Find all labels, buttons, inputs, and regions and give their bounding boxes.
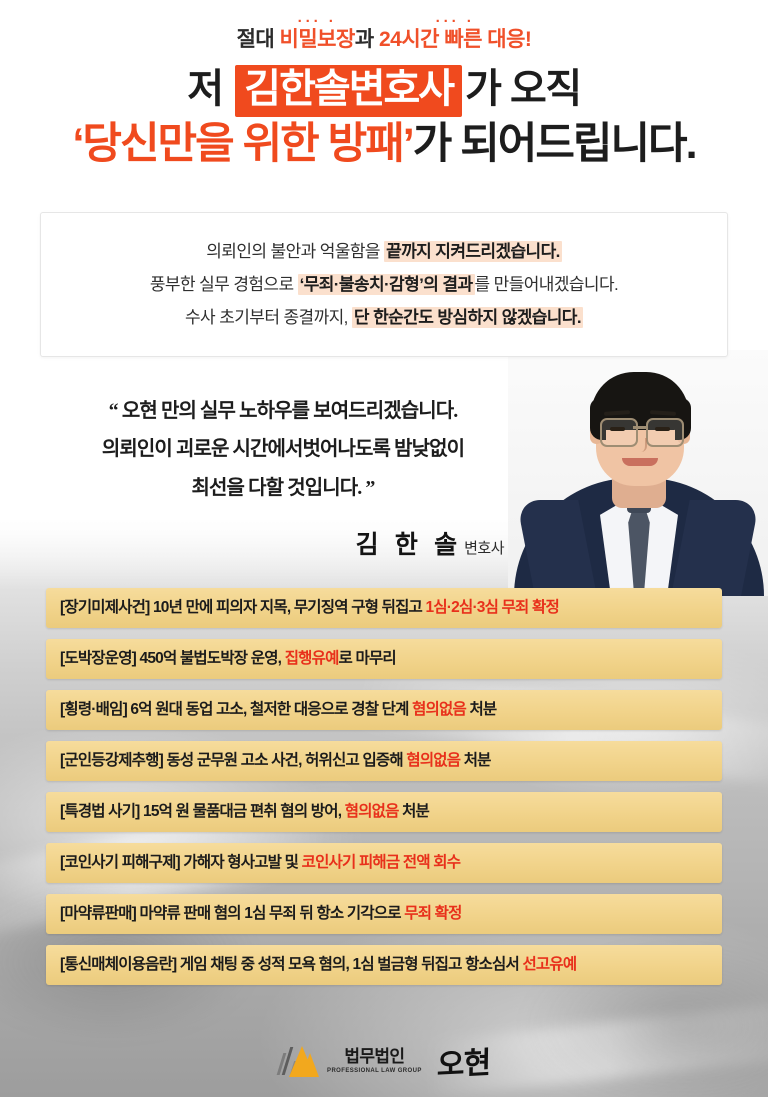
kicker-mid: 과 bbox=[355, 28, 379, 51]
kicker-emphasis-secrecy: 비밀보장 bbox=[280, 28, 355, 51]
promise-line: 수사 초기부터 종결까지, 단 한순간도 방심하지 않겠습니다. bbox=[41, 301, 727, 334]
case-outcome-highlight: 집행유예 bbox=[285, 650, 339, 667]
case-result-bar[interactable]: [군인등강제추행] 동성 군무원 고소 사건, 허위신고 입증해 혐의없음 처분 bbox=[46, 741, 722, 781]
portrait-eye-left bbox=[610, 427, 625, 431]
promise-text-end: 를 만들어내겠습니다. bbox=[475, 275, 619, 294]
logo-english-label: PROFESSIONAL LAW GROUP bbox=[327, 1068, 422, 1074]
quote-line: “ 오현 만의 실무 노하우를 보여드리겠습니다. bbox=[48, 392, 518, 430]
portrait-mouth bbox=[622, 458, 658, 466]
logo-peak-small bbox=[301, 1053, 319, 1077]
case-result-bar[interactable]: [특경법 사기] 15억 원 물품대금 편취 혐의 방어, 혐의없음 처분 bbox=[46, 792, 722, 832]
case-result-bar[interactable]: [통신매체이용음란] 게임 채팅 중 성적 모욕 혐의, 1심 벌금형 뒤집고 … bbox=[46, 945, 722, 985]
case-outcome-highlight: 1심·2심·3심 무죄 확정 bbox=[426, 599, 559, 616]
promise-highlight: 끝까지 지켜드리겠습니다. bbox=[384, 241, 562, 262]
case-text-start: [코인사기 피해구제] 가해자 형사고발 및 bbox=[60, 854, 302, 871]
quote-signature: 김 한 솔변호사 bbox=[48, 525, 518, 561]
signature-name: 김 한 솔 bbox=[356, 532, 463, 559]
case-text-end: 처분 bbox=[399, 803, 429, 820]
case-result-bar[interactable]: [마약류판매] 마약류 판매 혐의 1심 무죄 뒤 항소 기각으로 무죄 확정 bbox=[46, 894, 722, 934]
case-outcome-highlight: 혐의없음 bbox=[412, 701, 466, 718]
headline-secondary: ‘당신만을 위한 방패’가 되어드립니다. bbox=[0, 121, 768, 168]
promise-line: 의뢰인의 불안과 억울함을 끝까지 지켜드리겠습니다. bbox=[41, 235, 727, 268]
promise-text: 수사 초기부터 종결까지, bbox=[185, 308, 352, 327]
promise-highlight: 단 한순간도 방심하지 않겠습니다. bbox=[352, 307, 583, 328]
case-text-start: [도박장운영] 450억 불법도박장 운영, bbox=[60, 650, 285, 667]
case-result-bar[interactable]: [코인사기 피해구제] 가해자 형사고발 및 코인사기 피해금 전액 회수 bbox=[46, 843, 722, 883]
poster-root: 절대 비밀보장과 24시간 빠른 대응! 저 김한솔변호사가 오직 ‘당신만을 … bbox=[0, 0, 768, 1097]
case-results-list: [장기미제사건] 10년 만에 피의자 지목, 무기징역 구형 뒤집고 1심·2… bbox=[46, 588, 722, 996]
glasses-bridge bbox=[633, 426, 647, 429]
quote-line: 최선을 다할 것입니다. ” bbox=[48, 469, 518, 507]
case-text-start: [마약류판매] 마약류 판매 혐의 1심 무죄 뒤 항소 기각으로 bbox=[60, 905, 404, 922]
headline-pre: 저 bbox=[187, 67, 232, 111]
case-result-text: [통신매체이용음란] 게임 채팅 중 성적 모욕 혐의, 1심 벌금형 뒤집고 … bbox=[60, 957, 576, 973]
case-outcome-highlight: 혐의없음 bbox=[406, 752, 460, 769]
kicker-emphasis-response: 24시간 빠른 대응! bbox=[379, 28, 531, 51]
case-outcome-highlight: 무죄 확정 bbox=[404, 905, 461, 922]
case-result-text: [군인등강제추행] 동성 군무원 고소 사건, 허위신고 입증해 혐의없음 처분 bbox=[60, 753, 491, 769]
case-result-text: [횡령·배임] 6억 원대 동업 고소, 철저한 대응으로 경찰 단계 혐의없음… bbox=[60, 702, 496, 718]
case-result-text: [특경법 사기] 15억 원 물품대금 편취 혐의 방어, 혐의없음 처분 bbox=[60, 804, 429, 820]
case-text-start: [군인등강제추행] 동성 군무원 고소 사건, 허위신고 입증해 bbox=[60, 752, 406, 769]
quote-line: 의뢰인이 괴로운 시간에서벗어나도록 밤낮없이 bbox=[48, 430, 518, 468]
case-result-text: [코인사기 피해구제] 가해자 형사고발 및 코인사기 피해금 전액 회수 bbox=[60, 855, 460, 871]
case-text-end: 처분 bbox=[466, 701, 496, 718]
promise-highlight: ‘무죄·불송치·감형’의 결과 bbox=[298, 274, 475, 295]
headline-secondary-tail: 가 되어드립니다. bbox=[413, 120, 696, 168]
headline-name-badge: 김한솔변호사 bbox=[235, 65, 462, 117]
lawyer-portrait bbox=[508, 350, 768, 596]
case-outcome-highlight: 선고유예 bbox=[522, 956, 576, 973]
case-text-start: [횡령·배임] 6억 원대 동업 고소, 철저한 대응으로 경찰 단계 bbox=[60, 701, 412, 718]
promise-box: 의뢰인의 불안과 억울함을 끝까지 지켜드리겠습니다. 풍부한 실무 경험으로 … bbox=[40, 212, 728, 357]
kicker-prefix: 절대 bbox=[237, 28, 280, 51]
footer-logo[interactable]: 법무법인 PROFESSIONAL LAW GROUP 오현 bbox=[0, 1030, 768, 1092]
law-firm-mountain-icon bbox=[278, 1045, 318, 1077]
glasses-icon bbox=[646, 418, 684, 447]
case-text-start: [통신매체이용음란] 게임 채팅 중 성적 모욕 혐의, 1심 벌금형 뒤집고 … bbox=[60, 956, 522, 973]
portrait-nose bbox=[635, 438, 647, 452]
promise-text: 의뢰인의 불안과 억울함을 bbox=[206, 242, 384, 261]
case-result-bar[interactable]: [도박장운영] 450억 불법도박장 운영, 집행유예로 마무리 bbox=[46, 639, 722, 679]
case-result-text: [도박장운영] 450억 불법도박장 운영, 집행유예로 마무리 bbox=[60, 651, 396, 667]
case-result-text: [마약류판매] 마약류 판매 혐의 1심 무죄 뒤 항소 기각으로 무죄 확정 bbox=[60, 906, 462, 922]
case-outcome-highlight: 혐의없음 bbox=[345, 803, 399, 820]
brand-name: 오현 bbox=[436, 1038, 490, 1085]
header-block: 절대 비밀보장과 24시간 빠른 대응! 저 김한솔변호사가 오직 ‘당신만을 … bbox=[0, 0, 768, 168]
headline-primary: 저 김한솔변호사가 오직 bbox=[0, 65, 768, 117]
glasses-icon bbox=[600, 418, 638, 447]
case-text-end: 처분 bbox=[460, 752, 490, 769]
promise-line: 풍부한 실무 경험으로 ‘무죄·불송치·감형’의 결과를 만들어내겠습니다. bbox=[41, 268, 727, 301]
logo-text-block: 법무법인 PROFESSIONAL LAW GROUP bbox=[327, 1048, 422, 1074]
case-text-start: [특경법 사기] 15억 원 물품대금 편취 혐의 방어, bbox=[60, 803, 345, 820]
case-text-start: [장기미제사건] 10년 만에 피의자 지목, 무기징역 구형 뒤집고 bbox=[60, 599, 426, 616]
case-outcome-highlight: 코인사기 피해금 전액 회수 bbox=[302, 854, 461, 871]
case-result-bar[interactable]: [횡령·배임] 6억 원대 동업 고소, 철저한 대응으로 경찰 단계 혐의없음… bbox=[46, 690, 722, 730]
kicker-line: 절대 비밀보장과 24시간 빠른 대응! bbox=[0, 28, 768, 51]
case-text-end: 로 마무리 bbox=[339, 650, 396, 667]
lawyer-quote: “ 오현 만의 실무 노하우를 보여드리겠습니다. 의뢰인이 괴로운 시간에서벗… bbox=[48, 392, 518, 561]
signature-role: 변호사 bbox=[464, 541, 504, 557]
headline-shield-phrase: ‘당신만을 위한 방패’ bbox=[72, 120, 412, 168]
case-result-text: [장기미제사건] 10년 만에 피의자 지목, 무기징역 구형 뒤집고 1심·2… bbox=[60, 600, 559, 616]
headline-post: 가 오직 bbox=[465, 67, 581, 111]
portrait-eye-right bbox=[655, 427, 670, 431]
logo-korean-label: 법무법인 bbox=[344, 1048, 404, 1065]
case-result-bar[interactable]: [장기미제사건] 10년 만에 피의자 지목, 무기징역 구형 뒤집고 1심·2… bbox=[46, 588, 722, 628]
promise-text: 풍부한 실무 경험으로 bbox=[150, 275, 298, 294]
